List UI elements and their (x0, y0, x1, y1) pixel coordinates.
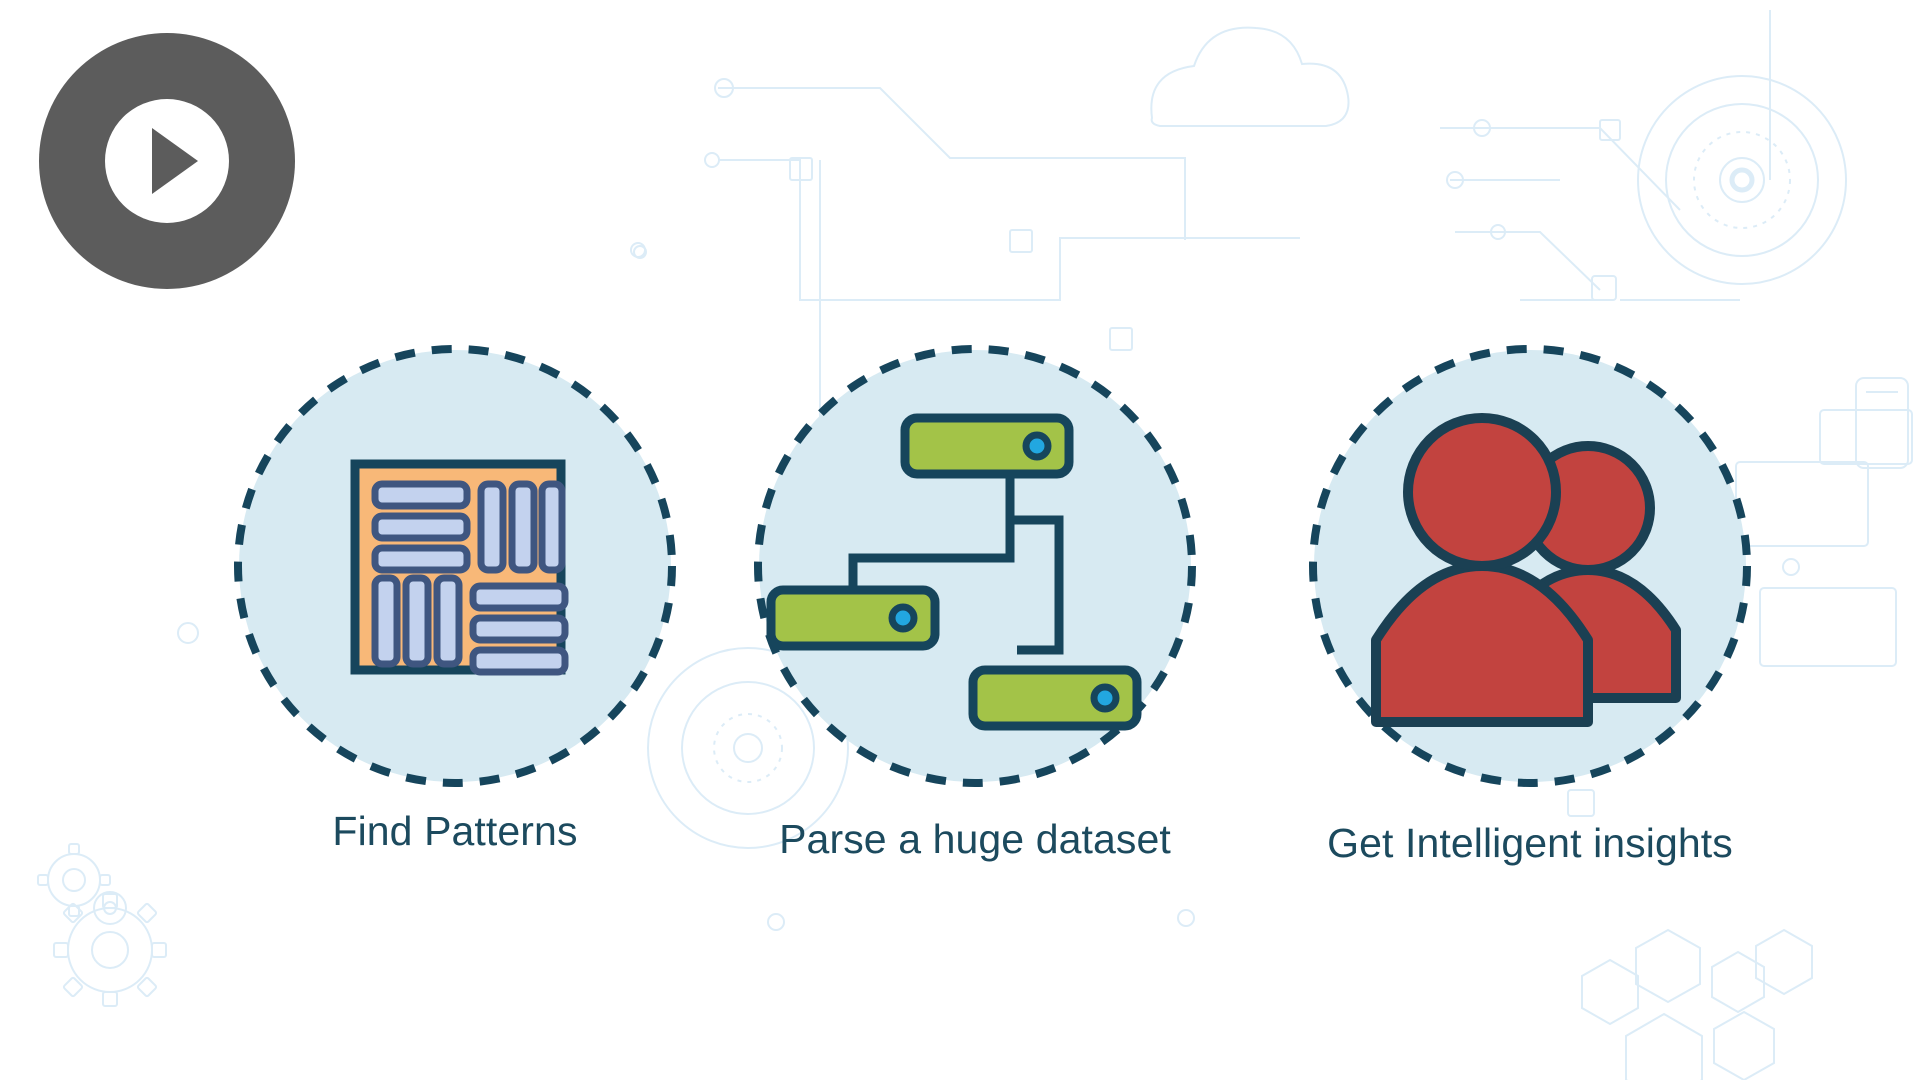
play-button[interactable] (38, 32, 296, 290)
feature-label: Parse a huge dataset (745, 816, 1205, 863)
pattern-grid-icon (229, 340, 681, 792)
feature-parse-dataset[interactable]: Parse a huge dataset (745, 340, 1205, 863)
people-group-icon (1304, 340, 1756, 792)
feature-icon-circle (1304, 340, 1756, 792)
org-node (973, 670, 1137, 726)
feature-intelligent-insights[interactable]: Get Intelligent insights (1300, 340, 1760, 867)
feature-find-patterns[interactable]: Find Patterns (225, 340, 685, 855)
feature-icon-circle (229, 340, 681, 792)
org-node (771, 590, 935, 646)
play-circle-icon[interactable] (38, 32, 296, 290)
slide-canvas: Find Patterns (0, 0, 1920, 1080)
feature-label: Find Patterns (225, 808, 685, 855)
feature-label: Get Intelligent insights (1300, 820, 1760, 867)
org-chart-icon (749, 340, 1201, 792)
org-node (905, 418, 1069, 474)
feature-icon-circle (749, 340, 1201, 792)
